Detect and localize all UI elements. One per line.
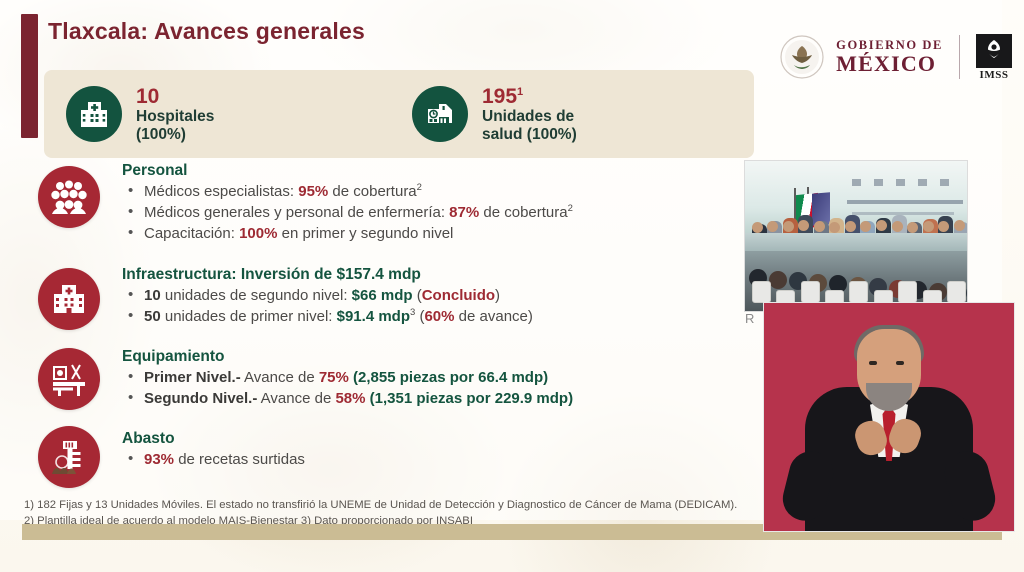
health-unit-icon (412, 86, 468, 142)
page-title: Tlaxcala: Avances generales (48, 18, 365, 45)
stat-hospitales-label-2: (100%) (136, 126, 214, 143)
event-ceremony-photo (744, 160, 968, 312)
imss-eagle-icon (976, 34, 1012, 68)
stat-hospitales-number: 10 (136, 85, 214, 109)
bullet-item: Médicos generales y personal de enfermer… (122, 203, 746, 223)
section-equipamiento-body: Equipamiento Primer Nivel.- Avance de 75… (122, 348, 746, 409)
imss-logo: IMSS (976, 34, 1012, 81)
section-personal-bullets: Médicos especialistas: 95% de cobertura2… (122, 182, 746, 244)
section-infraestructura: Infraestructura: Inversión de $157.4 mdp… (16, 266, 746, 344)
people-group-icon (38, 166, 100, 228)
section-abasto-body: Abasto 93% de recetas surtidas (122, 430, 746, 470)
stat-hospitales-text: 10 Hospitales (100%) (136, 85, 214, 143)
medical-equipment-icon (38, 348, 100, 410)
bullet-item: 50 unidades de primer nivel: $91.4 mdp3 … (122, 307, 746, 327)
section-abasto-bullets: 93% de recetas surtidas (122, 450, 746, 470)
logo-wordmark: GOBIERNO DE MÉXICO (836, 39, 943, 76)
hospital-building-icon (38, 268, 100, 330)
section-personal-title: Personal (122, 162, 746, 180)
section-abasto-title: Abasto (122, 430, 746, 448)
section-infraestructura-title: Infraestructura: Inversión de $157.4 mdp (122, 266, 746, 284)
key-stats-strip: 10 Hospitales (100%) (44, 70, 754, 158)
bullet-item: Primer Nivel.- Avance de 75% (2,855 piez… (122, 368, 746, 388)
bullet-item: Médicos especialistas: 95% de cobertura2 (122, 182, 746, 202)
mexican-eagle-seal-icon (780, 35, 824, 79)
section-infraestructura-body: Infraestructura: Inversión de $157.4 mdp… (122, 266, 746, 327)
stat-unidades-salud-number: 1951 (482, 85, 577, 109)
bullet-item: 93% de recetas surtidas (122, 450, 746, 470)
logo-divider (959, 35, 960, 79)
title-accent-bar (21, 14, 38, 138)
content-sections: Personal Médicos especialistas: 95% de c… (16, 162, 746, 496)
bullet-item: Capacitación: 100% en primer y segundo n… (122, 224, 746, 244)
section-infraestructura-bullets: 10 unidades de segundo nivel: $66 mdp (C… (122, 286, 746, 327)
gobierno-de-mexico-logo: GOBIERNO DE MÉXICO IMSS (780, 26, 1012, 88)
hospital-icon (66, 86, 122, 142)
stat-unidades-salud-label-2: salud (100%) (482, 126, 577, 143)
section-abasto: Abasto 93% de recetas surtidas (16, 430, 746, 492)
section-personal: Personal Médicos especialistas: 95% de c… (16, 162, 746, 262)
pharmacy-supply-icon (38, 426, 100, 488)
logo-line-2: MÉXICO (836, 53, 943, 75)
stat-hospitales: 10 Hospitales (100%) (66, 85, 396, 143)
section-equipamiento: Equipamiento Primer Nivel.- Avance de 75… (16, 348, 746, 426)
stat-hospitales-label-1: Hospitales (136, 108, 214, 125)
section-personal-body: Personal Médicos especialistas: 95% de c… (122, 162, 746, 244)
section-equipamiento-bullets: Primer Nivel.- Avance de 75% (2,855 piez… (122, 368, 746, 409)
section-equipamiento-title: Equipamiento (122, 348, 746, 366)
stat-unidades-salud-text: 1951 Unidades de salud (100%) (482, 85, 577, 143)
imss-wordmark: IMSS (980, 69, 1009, 81)
corner-label: R (745, 311, 754, 326)
bullet-item: 10 unidades de segundo nivel: $66 mdp (C… (122, 286, 746, 306)
sign-language-interpreter-video[interactable] (763, 302, 1015, 532)
stat-unidades-salud-label-1: Unidades de (482, 108, 577, 125)
bullet-item: Segundo Nivel.- Avance de 58% (1,351 pie… (122, 389, 746, 409)
presentation-slide: Tlaxcala: Avances generales GOBIERNO DE … (0, 0, 1024, 572)
stat-unidades-salud: 1951 Unidades de salud (100%) (412, 85, 577, 143)
logo-line-1: GOBIERNO DE (836, 39, 943, 52)
